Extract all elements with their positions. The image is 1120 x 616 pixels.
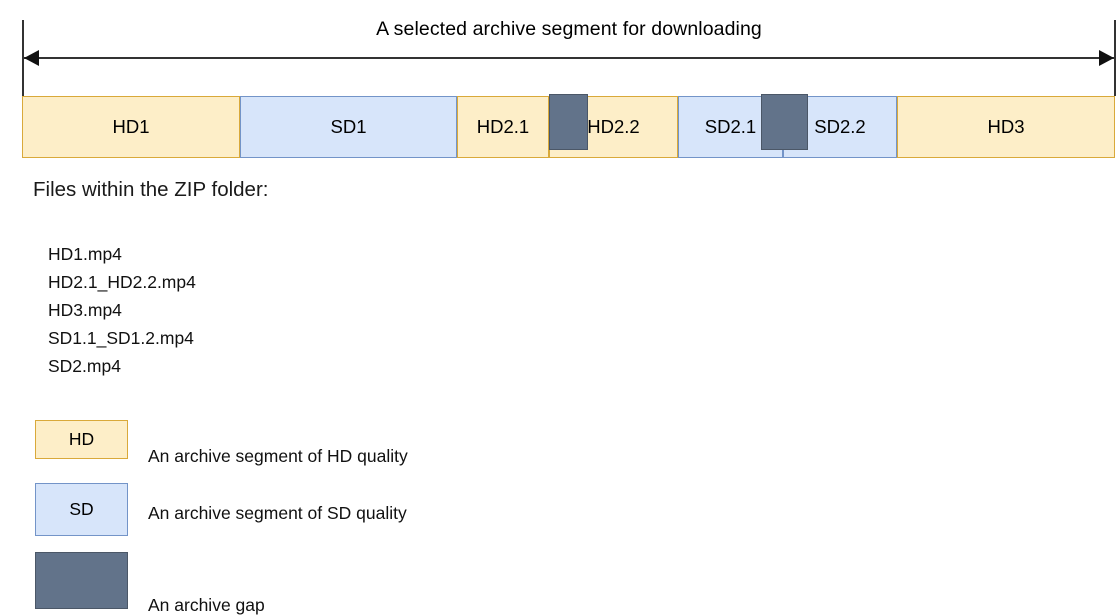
legend-swatch-hd: HD: [35, 420, 128, 459]
range-end-tick: [1114, 20, 1116, 96]
legend-swatch-gapsw: [35, 552, 128, 609]
legend-label: An archive segment of SD quality: [148, 502, 407, 524]
legend-swatch-sd: SD: [35, 483, 128, 536]
annotation-title: A selected archive segment for downloadi…: [23, 17, 1115, 41]
file-list-item: SD1.1_SD1.2.mp4: [48, 324, 196, 352]
selection-annotation: A selected archive segment for downloadi…: [0, 0, 1120, 96]
files-heading: Files within the ZIP folder:: [33, 177, 268, 203]
file-list-item: HD1.mp4: [48, 240, 196, 268]
legend-label: An archive segment of HD quality: [148, 445, 408, 467]
timeline-gap-1: [549, 94, 588, 150]
timeline-segment-sd1[interactable]: SD1: [240, 96, 457, 158]
archive-timeline[interactable]: HD1SD1HD2.1HD2.2SD2.1SD2.2HD3: [22, 96, 1115, 158]
files-list: HD1.mp4HD2.1_HD2.2.mp4HD3.mp4SD1.1_SD1.2…: [48, 240, 196, 380]
arrow-right-head-icon: [1099, 50, 1114, 66]
file-list-item: HD2.1_HD2.2.mp4: [48, 268, 196, 296]
arrow-left-head-icon: [24, 50, 39, 66]
file-list-item: SD2.mp4: [48, 352, 196, 380]
timeline-segment-hd3[interactable]: HD3: [897, 96, 1115, 158]
timeline-gap-2: [761, 94, 808, 150]
timeline-segment-hd1[interactable]: HD1: [22, 96, 240, 158]
range-arrow-line: [24, 57, 1114, 59]
file-list-item: HD3.mp4: [48, 296, 196, 324]
legend-label: An archive gap: [148, 594, 265, 616]
timeline-segment-hd2-1[interactable]: HD2.1: [457, 96, 549, 158]
